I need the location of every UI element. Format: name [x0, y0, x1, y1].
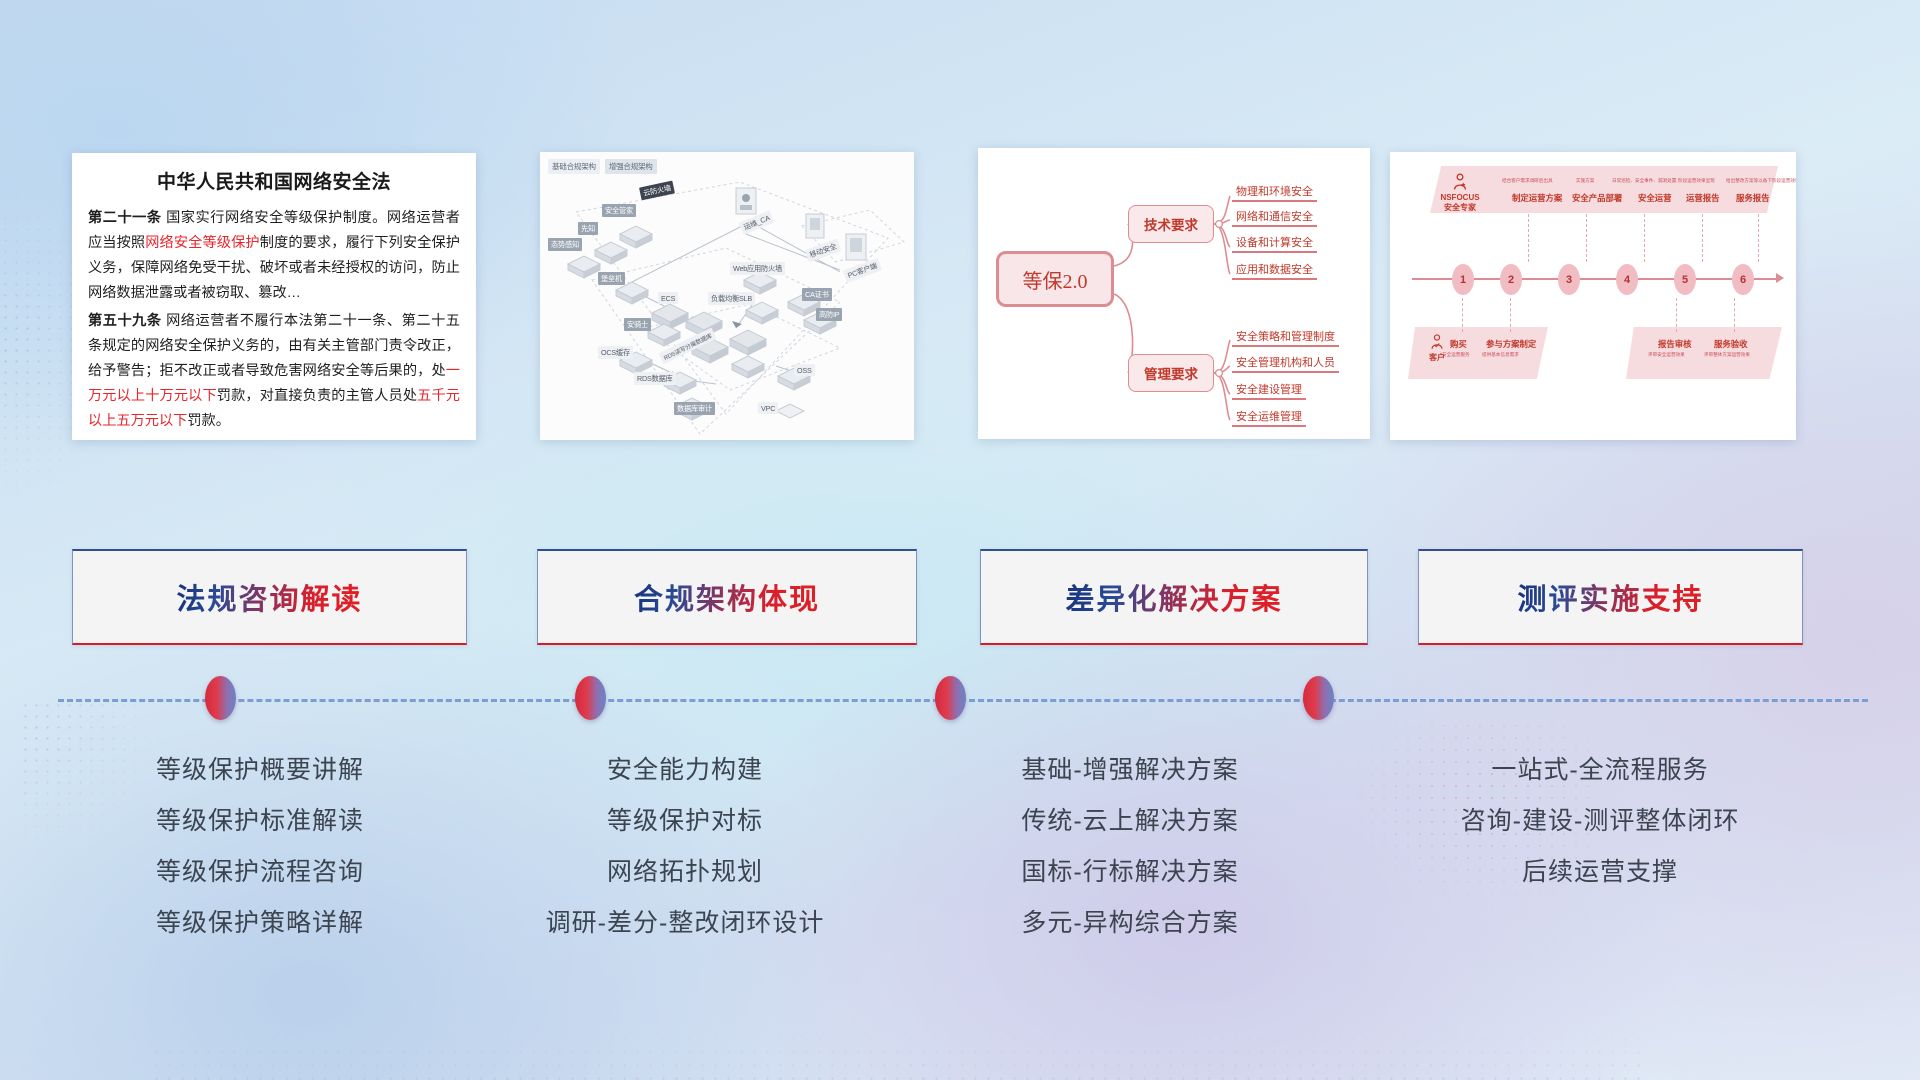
- lead-line-5: [1758, 214, 1759, 262]
- expert-title: 安全专家: [1436, 203, 1484, 213]
- mindmap-leaf-policy-system: 安全策略和管理制度: [1232, 328, 1339, 347]
- list-item: 传统-云上解决方案: [920, 796, 1340, 847]
- node-label-rds-database: RDS数据库: [634, 372, 676, 385]
- mindmap-branch-technical[interactable]: 技术要求: [1128, 205, 1214, 243]
- mindmap-branch-management[interactable]: 管理要求: [1128, 354, 1214, 392]
- rail-dot-3: [935, 676, 966, 720]
- node-label-situation-awareness: 态势感知: [548, 238, 582, 251]
- law-article-21: 第二十一条 国家实行网络安全等级保护制度。网络运营者应当按照网络安全等级保护制度…: [88, 206, 460, 306]
- timeline-axis-arrow: [1776, 273, 1784, 283]
- step-2-title: 安全产品部署: [1572, 192, 1622, 204]
- law-59-run-4: 罚款。: [187, 413, 230, 429]
- timeline-node-1[interactable]: 1: [1452, 264, 1474, 295]
- architecture-diagram: 基础合规架构 增强合规架构: [540, 152, 914, 440]
- mindmap-collapse-mgmt: [1216, 370, 1223, 377]
- lead-line-9: [1734, 298, 1735, 332]
- node-label-web-app-firewall: Web应用防火墙: [730, 262, 785, 275]
- bottom-right-2-subtitle: 评审整体方案运营效果: [1704, 352, 1750, 358]
- expert-person-icon: [1450, 172, 1470, 192]
- lead-line-6: [1462, 298, 1463, 332]
- list-item: 等级保护策略详解: [60, 898, 460, 949]
- cards-row: 中华人民共和国网络安全法 第二十一条 国家实行网络安全等级保护制度。网络运营者应…: [0, 0, 1920, 470]
- header-box-differentiated-solution[interactable]: 差异化解决方案: [980, 549, 1368, 645]
- step-3-title: 安全运营: [1638, 192, 1672, 204]
- step-1-subtitle: 结合客户需求调研后出具: [1502, 178, 1553, 184]
- mindmap: 等保2.0 技术要求 管理要求 物理和环境安全 网络和通信安全 设备和计算安全 …: [978, 148, 1370, 439]
- mindmap-root: 等保2.0: [996, 251, 1114, 307]
- timeline-node-6[interactable]: 6: [1732, 264, 1754, 295]
- detail-column-3: 基础-增强解决方案 传统-云上解决方案 国标-行标解决方案 多元-异构综合方案: [920, 745, 1340, 949]
- timeline-node-5[interactable]: 5: [1674, 264, 1696, 295]
- header-box-regulation-consulting[interactable]: 法规咨询解读: [72, 549, 467, 645]
- list-item: 咨询-建设-测评整体闭环: [1390, 796, 1810, 847]
- list-item: 网络拓扑规划: [475, 847, 895, 898]
- step-3-subtitle: 日常巡检、安全事件、漏洞处置: [1612, 178, 1676, 184]
- rail-dot-1: [205, 676, 236, 720]
- list-item: 后续运营支撑: [1390, 847, 1810, 898]
- mindmap-leaf-ops-mgmt: 安全运维管理: [1232, 408, 1306, 427]
- lead-line-7: [1510, 298, 1511, 332]
- step-4-subtitle: 阶段运营效果呈现: [1678, 178, 1715, 184]
- lead-line-8: [1676, 298, 1677, 332]
- node-label-bastion-host: 堡垒机: [598, 272, 625, 285]
- header-label-4: 测评实施支持: [1517, 576, 1703, 618]
- bottom-left-1-title: 购买: [1450, 338, 1467, 350]
- mindmap-collapse-tech: [1216, 221, 1223, 228]
- mindmap-card: 等保2.0 技术要求 管理要求 物理和环境安全 网络和通信安全 设备和计算安全 …: [978, 148, 1370, 439]
- node-label-xianzhi: 先知: [578, 222, 598, 235]
- rail-dot-2: [575, 676, 606, 720]
- node-label-ca-certificate: CA证书: [802, 288, 832, 301]
- detail-column-4: 一站式-全流程服务 咨询-建设-测评整体闭环 后续运营支撑: [1390, 745, 1810, 898]
- node-label-load-balancer-slb: 负载均衡SLB: [708, 292, 755, 305]
- customer-person-icon: [1428, 333, 1446, 351]
- lead-line-2: [1586, 214, 1587, 262]
- header-label-3: 差异化解决方案: [1065, 576, 1282, 618]
- nsfocus-expert: NSFOCUS 安全专家: [1436, 172, 1484, 213]
- node-label-ocs-cache: OCS缓存: [598, 346, 633, 359]
- law-59-run-2: 罚款，对直接负责的主管人员处: [217, 388, 417, 404]
- law-card: 中华人民共和国网络安全法 第二十一条 国家实行网络安全等级保护制度。网络运营者应…: [72, 153, 476, 440]
- list-item: 基础-增强解决方案: [920, 745, 1340, 796]
- list-item: 安全能力构建: [475, 745, 895, 796]
- mindmap-leaf-network-comm: 网络和通信安全: [1232, 208, 1317, 227]
- expert-name: NSFOCUS: [1436, 193, 1484, 203]
- node-label-security-butler: 安全管家: [602, 204, 636, 217]
- timeline-node-2[interactable]: 2: [1500, 264, 1522, 295]
- node-label-anqishi: 安骑士: [624, 318, 651, 331]
- bottom-right-2-title: 服务验收: [1714, 338, 1748, 350]
- mindmap-leaf-physical-env: 物理和环境安全: [1232, 183, 1317, 202]
- bottom-left-2-subtitle: 提供基本信息需求: [1482, 352, 1519, 358]
- step-4-title: 运营报告: [1686, 192, 1720, 204]
- nsfocus-timeline-card: NSFOCUS 安全专家 结合客户需求调研后出具 制定运营方案 实施方案 安全产…: [1390, 152, 1796, 440]
- header-box-assessment-support[interactable]: 测评实施支持: [1418, 549, 1803, 645]
- law-21-run-1-highlight: 网络安全等级保护: [145, 235, 260, 251]
- nsfocus-timeline: NSFOCUS 安全专家 结合客户需求调研后出具 制定运营方案 实施方案 安全产…: [1390, 152, 1796, 440]
- mindmap-leaf-device-compute: 设备和计算安全: [1232, 234, 1317, 253]
- bottom-left-1-subtitle: 安全运营服务: [1442, 352, 1470, 358]
- step-5-title: 服务报告: [1736, 192, 1770, 204]
- architecture-card: 基础合规架构 增强合规架构: [540, 152, 914, 440]
- detail-column-2: 安全能力构建 等级保护对标 网络拓扑规划 调研-差分-整改闭环设计: [475, 745, 895, 949]
- bottom-right-1-subtitle: 评审安全运营效果: [1648, 352, 1685, 358]
- rail-dot-4: [1303, 676, 1334, 720]
- timeline-node-3[interactable]: 3: [1558, 264, 1580, 295]
- mindmap-leaf-app-data: 应用和数据安全: [1232, 261, 1317, 280]
- bottom-right-1-title: 报告审核: [1658, 338, 1692, 350]
- mindmap-leaf-build-mgmt: 安全建设管理: [1232, 381, 1306, 400]
- mindmap-leaf-org-personnel: 安全管理机构和人员: [1232, 354, 1339, 373]
- bottom-left-2-title: 参与方案制定: [1486, 338, 1536, 350]
- timeline-node-4[interactable]: 4: [1616, 264, 1638, 295]
- list-item: 等级保护标准解读: [60, 796, 460, 847]
- header-box-compliance-architecture[interactable]: 合规架构体现: [537, 549, 917, 645]
- node-label-anti-ddos-ip: 高防IP: [816, 308, 842, 321]
- detail-column-1: 等级保护概要讲解 等级保护标准解读 等级保护流程咨询 等级保护策略详解: [60, 745, 460, 949]
- step-1-title: 制定运营方案: [1512, 192, 1562, 204]
- node-label-oss: OSS: [794, 364, 815, 376]
- law-article-21-number: 第二十一条: [88, 210, 162, 226]
- law-article-59-number: 第五十九条: [88, 313, 162, 329]
- list-item: 等级保护概要讲解: [60, 745, 460, 796]
- step-5-subtitle: 给出整改方案等以备下阶段运营效果: [1726, 178, 1796, 184]
- list-item: 调研-差分-整改闭环设计: [475, 898, 895, 949]
- node-label-database-audit: 数据库审计: [674, 402, 715, 415]
- lead-line-3: [1644, 214, 1645, 262]
- law-title: 中华人民共和国网络安全法: [88, 167, 460, 194]
- law-article-59: 第五十九条 网络运营者不履行本法第二十一条、第二十五条规定的网络安全保护义务的，…: [88, 309, 460, 434]
- list-item: 等级保护流程咨询: [60, 847, 460, 898]
- list-item: 一站式-全流程服务: [1390, 745, 1810, 796]
- list-item: 国标-行标解决方案: [920, 847, 1340, 898]
- law-body: 中华人民共和国网络安全法 第二十一条 国家实行网络安全等级保护制度。网络运营者应…: [72, 153, 476, 440]
- header-label-1: 法规咨询解读: [176, 576, 362, 618]
- lead-line-1: [1528, 214, 1529, 262]
- step-2-subtitle: 实施方案: [1576, 178, 1594, 184]
- decorative-dots-bottom: [150, 1020, 1650, 1080]
- header-label-2: 合规架构体现: [634, 576, 820, 618]
- node-label-ecs: ECS: [658, 292, 678, 304]
- lead-line-4: [1702, 214, 1703, 262]
- list-item: 等级保护对标: [475, 796, 895, 847]
- list-item: 多元-异构综合方案: [920, 898, 1340, 949]
- node-label-vpc: VPC: [758, 402, 778, 414]
